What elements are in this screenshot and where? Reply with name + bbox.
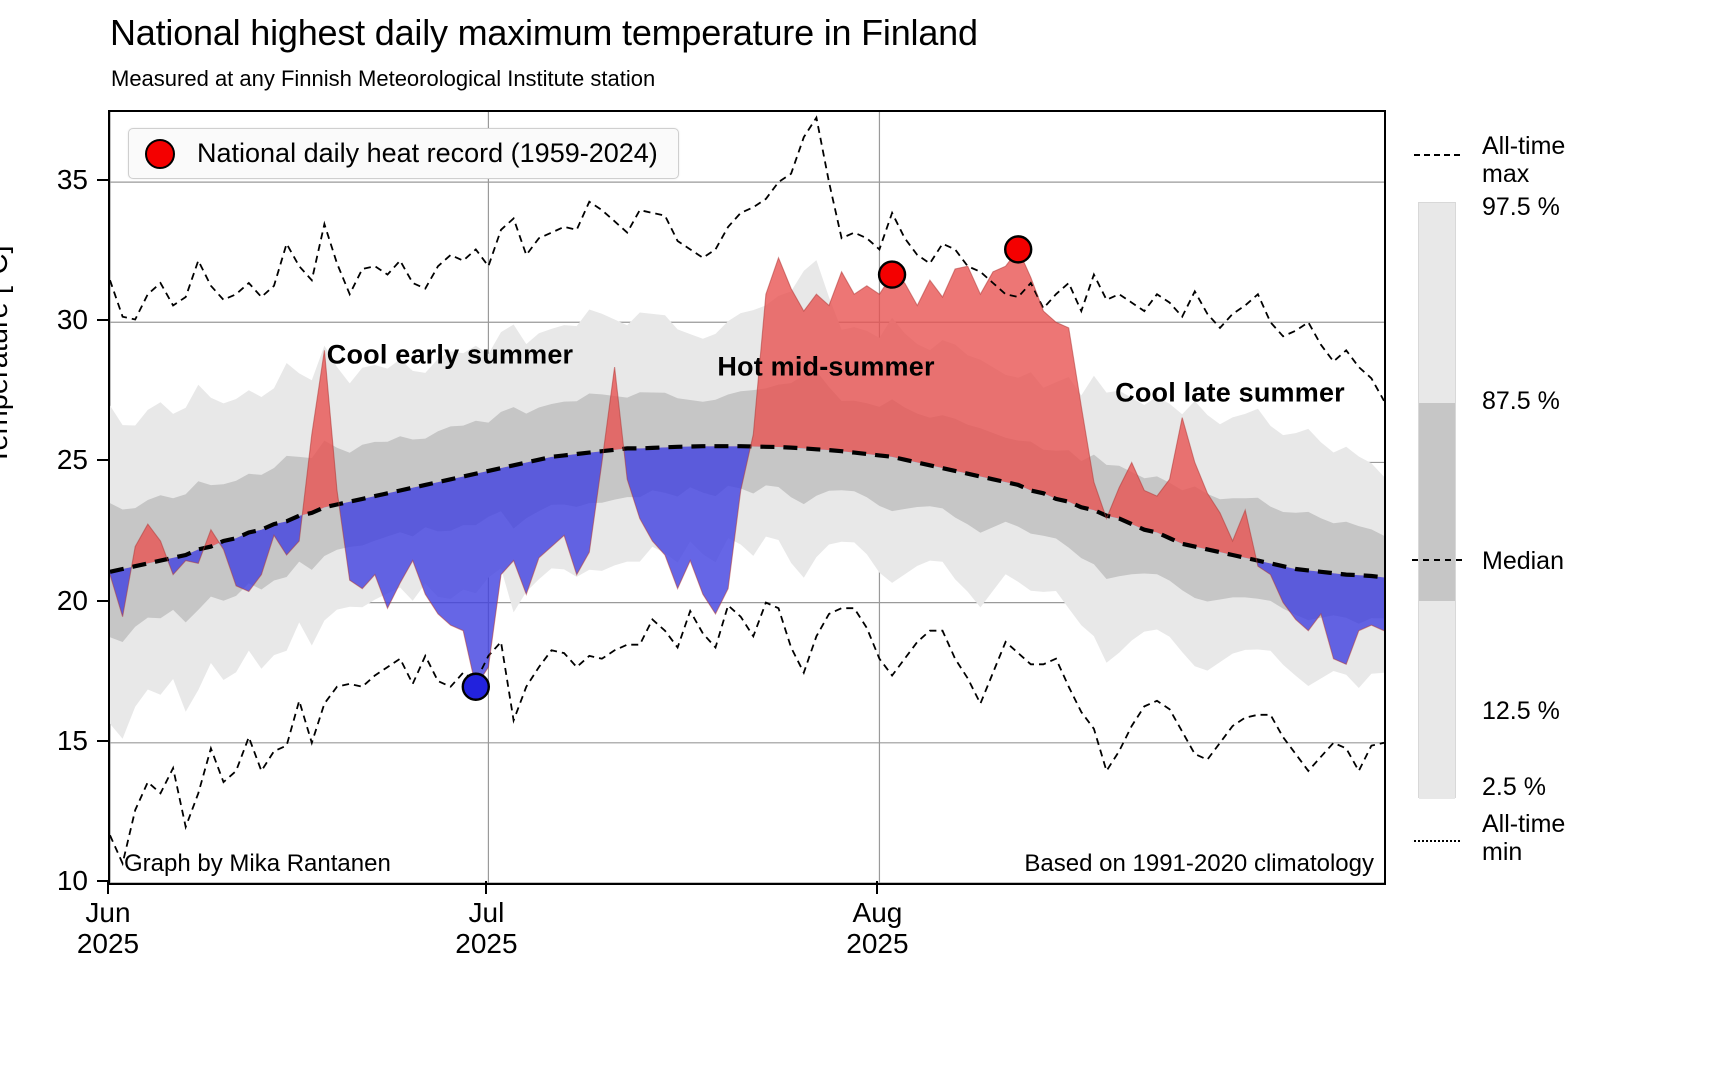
y-axis-tick-label: 20 [18, 585, 88, 617]
y-axis-tick-label: 30 [18, 304, 88, 336]
heat-record-marker-icon [145, 139, 175, 169]
y-axis-tick [97, 740, 108, 742]
alltime-max-line-icon [1414, 154, 1460, 156]
median-line-icon [1412, 559, 1462, 561]
side-legend-median: Median [1482, 547, 1564, 575]
credit-author: Graph by Mika Rantanen [124, 850, 391, 878]
x-axis-tick [876, 881, 878, 894]
alltime-min-line2: min [1482, 838, 1522, 866]
x-axis-tick [107, 881, 109, 894]
y-axis-tick [97, 459, 108, 461]
alltime-min-line-icon [1414, 840, 1460, 842]
side-legend-p975: 97.5 % [1482, 193, 1560, 221]
y-axis-tick [97, 179, 108, 181]
side-legend-p125: 12.5 % [1482, 697, 1560, 725]
cbar-seg-975-875 [1419, 203, 1455, 403]
alltime-max-line1: All-time [1482, 132, 1565, 160]
alltime-max-line2: max [1482, 160, 1529, 188]
credit-climatology: Based on 1991-2020 climatology [1024, 850, 1374, 878]
x-axis-tick-label: Jun2025 [28, 897, 188, 960]
y-axis-tick [97, 600, 108, 602]
y-axis-tick-label: 10 [18, 865, 88, 897]
x-tick-month: Aug [853, 897, 903, 928]
x-tick-month: Jun [85, 897, 130, 928]
annotation-cool-late-summer: Cool late summer [1115, 378, 1345, 409]
x-axis-tick-label: Aug2025 [797, 897, 957, 960]
alltime-min-line1: All-time [1482, 810, 1565, 838]
y-axis-tick-label: 15 [18, 725, 88, 757]
side-legend-p25: 2.5 % [1482, 773, 1546, 801]
x-tick-year: 2025 [846, 928, 908, 959]
chart-page: National highest daily maximum temperatu… [0, 0, 1716, 1075]
annotation-hot-mid-summer: Hot mid-summer [717, 352, 934, 383]
chart-legend[interactable]: National daily heat record (1959-2024) [128, 128, 679, 179]
percentile-colorbar [1418, 202, 1456, 798]
y-axis-tick-label: 35 [18, 164, 88, 196]
legend-label-heat-record: National daily heat record (1959-2024) [197, 138, 658, 169]
x-tick-month: Jul [469, 897, 505, 928]
cbar-seg-875-125 [1419, 403, 1455, 601]
x-tick-year: 2025 [455, 928, 517, 959]
x-axis-tick [485, 881, 487, 894]
heat-record-point[interactable] [1005, 236, 1031, 262]
page-subtitle: Measured at any Finnish Meteorological I… [111, 66, 655, 92]
side-legend-alltime-max: All-time max [1482, 132, 1565, 188]
x-tick-year: 2025 [77, 928, 139, 959]
page-title: National highest daily maximum temperatu… [110, 12, 978, 54]
heat-record-point[interactable] [879, 262, 905, 288]
x-axis-tick-label: Jul2025 [406, 897, 566, 960]
side-legend-p875: 87.5 % [1482, 387, 1560, 415]
plot-area: Cool early summer Hot mid-summer Cool la… [108, 110, 1386, 885]
y-axis-tick [97, 319, 108, 321]
cbar-seg-125-25 [1419, 601, 1455, 799]
y-axis-title: Temperature [°C] [0, 245, 15, 465]
y-axis-tick-label: 25 [18, 444, 88, 476]
side-legend: All-time max 97.5 % 87.5 % Median 12.5 %… [1396, 110, 1716, 885]
cold-record-point[interactable] [463, 674, 489, 700]
chart-canvas [110, 112, 1384, 883]
annotation-cool-early-summer: Cool early summer [327, 340, 574, 371]
side-legend-alltime-min: All-time min [1482, 810, 1565, 866]
